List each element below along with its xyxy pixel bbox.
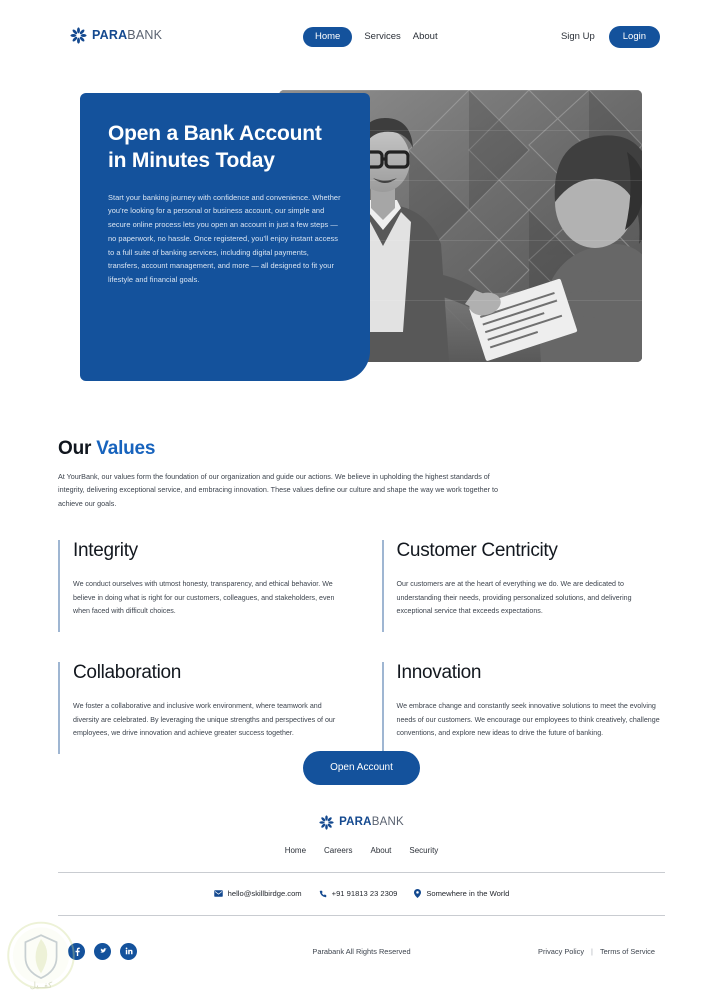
values-grid: Integrity We conduct ourselves with utmo…: [0, 540, 723, 754]
footer-brand-logo[interactable]: PARABANK: [0, 815, 723, 830]
value-title: Innovation: [397, 662, 666, 684]
privacy-policy-link[interactable]: Privacy Policy: [538, 947, 584, 956]
hero-paragraph: Start your banking journey with confiden…: [108, 191, 342, 287]
hero-title-line-2: in Minutes Today: [108, 149, 275, 172]
sign-up-link[interactable]: Sign Up: [561, 31, 595, 42]
facebook-icon: [72, 946, 82, 956]
cta-section: Open Account: [0, 751, 723, 785]
footer-bottom-bar: Parabank All Rights Reserved Privacy Pol…: [0, 936, 723, 966]
brand-logo[interactable]: PARABANK: [70, 27, 162, 44]
value-card-customer-centricity: Customer Centricity Our customers are at…: [382, 540, 666, 632]
values-intro: At YourBank, our values form the foundat…: [0, 470, 560, 510]
value-body: We conduct ourselves with utmost honesty…: [73, 578, 342, 619]
open-account-button[interactable]: Open Account: [303, 751, 420, 785]
hero-title: Open a Bank Account in Minutes Today: [108, 121, 342, 175]
twitter-link[interactable]: [94, 943, 111, 960]
legal-separator: |: [591, 947, 593, 956]
brand-name-bold: PARA: [92, 28, 127, 42]
contact-email[interactable]: hello@skillbirdge.com: [214, 889, 302, 898]
site-header: PARABANK Home Services About Sign Up Log…: [0, 0, 723, 72]
footer-nav-item-about[interactable]: About: [370, 846, 391, 855]
legal-links: Privacy Policy | Terms of Service: [538, 947, 655, 956]
values-section: Our Values At YourBank, our values form …: [0, 438, 723, 754]
hero-card: Open a Bank Account in Minutes Today Sta…: [80, 93, 370, 381]
footer-nav-item-security[interactable]: Security: [409, 846, 438, 855]
values-heading-dark: Our: [58, 438, 91, 459]
linkedin-icon: [124, 946, 134, 956]
hero-title-line-1: Open a Bank Account: [108, 122, 322, 145]
value-title: Integrity: [73, 540, 342, 562]
pinwheel-logo-icon: [319, 815, 334, 830]
contact-email-text: hello@skillbirdge.com: [228, 889, 302, 898]
value-card-innovation: Innovation We embrace change and constan…: [382, 662, 666, 754]
contact-phone[interactable]: +91 91813 23 2309: [319, 889, 398, 898]
hero-section: Open a Bank Account in Minutes Today Sta…: [0, 90, 723, 375]
footer-contact-row: hello@skillbirdge.com +91 91813 23 2309: [0, 889, 723, 898]
footer-nav-item-careers[interactable]: Careers: [324, 846, 352, 855]
linkedin-link[interactable]: [120, 943, 137, 960]
terms-of-service-link[interactable]: Terms of Service: [600, 947, 655, 956]
value-body: Our customers are at the heart of everyt…: [397, 578, 666, 619]
nav-item-home[interactable]: Home: [303, 27, 352, 47]
value-card-collaboration: Collaboration We foster a collaborative …: [58, 662, 342, 754]
location-pin-icon: [414, 889, 421, 898]
footer-divider-bottom: [58, 915, 665, 916]
nav-item-about[interactable]: About: [413, 32, 438, 42]
twitter-icon: [98, 946, 108, 956]
social-links: [68, 943, 137, 960]
brand-name-light: BANK: [127, 28, 162, 42]
footer-nav: Home Careers About Security: [0, 846, 723, 855]
value-title: Customer Centricity: [397, 540, 666, 562]
values-heading-accent: Values: [96, 438, 155, 459]
footer-divider-top: [58, 872, 665, 873]
brand-wordmark: PARABANK: [92, 29, 162, 42]
footer-nav-item-home[interactable]: Home: [285, 846, 306, 855]
landing-page: PARABANK Home Services About Sign Up Log…: [0, 0, 723, 1000]
value-title: Collaboration: [73, 662, 342, 684]
login-button[interactable]: Login: [609, 26, 660, 48]
contact-phone-text: +91 91813 23 2309: [332, 889, 398, 898]
pinwheel-logo-icon: [70, 27, 87, 44]
footer-brand-wordmark: PARABANK: [339, 817, 404, 829]
mail-icon: [214, 890, 223, 897]
contact-location-text: Somewhere in the World: [426, 889, 509, 898]
phone-icon: [319, 890, 327, 898]
facebook-link[interactable]: [68, 943, 85, 960]
values-heading: Our Values: [0, 438, 723, 460]
watermark-text: كفــيل: [30, 981, 53, 991]
value-body: We foster a collaborative and inclusive …: [73, 700, 342, 741]
value-card-integrity: Integrity We conduct ourselves with utmo…: [58, 540, 342, 632]
footer-brand-name-light: BANK: [372, 816, 404, 828]
contact-location[interactable]: Somewhere in the World: [414, 889, 509, 898]
value-body: We embrace change and constantly seek in…: [397, 700, 666, 741]
footer-brand-name-bold: PARA: [339, 816, 372, 828]
header-actions: Sign Up Login: [561, 26, 660, 48]
main-nav: Home Services About: [303, 27, 438, 47]
site-footer: PARABANK Home Careers About Security hel…: [0, 815, 723, 966]
nav-item-services[interactable]: Services: [364, 32, 400, 42]
